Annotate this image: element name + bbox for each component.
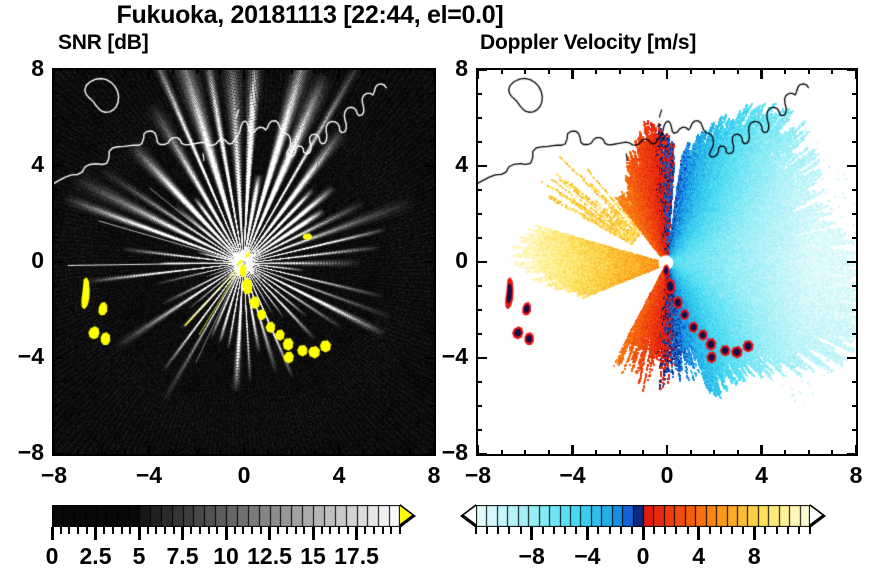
colorbar-minor-tick (60, 527, 62, 534)
axis-tick (430, 93, 436, 95)
page-title: Fukuoka, 20181113 [22:44, el=0.0] (0, 1, 620, 30)
axis-tick (196, 68, 198, 74)
axis-tick (713, 450, 715, 456)
axis-tick (524, 450, 526, 456)
y-axis-tick-label: −4 (420, 343, 468, 370)
colorbar-minor-tick (553, 527, 555, 534)
axis-tick (430, 189, 436, 191)
velocity-colorbar[interactable] (476, 505, 810, 527)
colorbar-minor-tick (216, 527, 218, 534)
x-axis-tick-label: −8 (24, 462, 84, 489)
axis-tick (52, 285, 58, 287)
colorbar-major-tick (697, 527, 700, 540)
axis-tick (362, 450, 364, 456)
axis-tick (476, 285, 482, 287)
axis-tick (52, 93, 58, 95)
axis-tick (386, 450, 388, 456)
colorbar-major-tick (138, 527, 141, 540)
axis-tick (338, 68, 341, 79)
colorbar-minor-tick (620, 527, 622, 534)
axis-tick (548, 68, 550, 74)
radar-display: Fukuoka, 20181113 [22:44, el=0.0] SNR [d… (0, 0, 870, 570)
axis-tick (77, 68, 79, 74)
axis-tick (476, 333, 482, 335)
snr-colorbar-ticks (52, 505, 400, 527)
colorbar-minor-tick (809, 527, 811, 534)
axis-tick (852, 93, 858, 95)
velocity-panel-title: Doppler Velocity [m/s] (476, 31, 862, 55)
colorbar-minor-tick (497, 527, 499, 534)
snr-panel-title: SNR [dB] (52, 31, 442, 55)
axis-tick (847, 165, 858, 168)
colorbar-minor-tick (776, 527, 778, 534)
y-axis-tick-label: 0 (420, 247, 468, 274)
axis-tick (501, 450, 503, 456)
colorbar-major-tick (268, 527, 271, 540)
colorbar-minor-tick (234, 527, 236, 534)
colorbar-tick-label: −8 (519, 543, 545, 570)
axis-tick (760, 445, 763, 456)
y-axis-tick-label: 8 (420, 55, 468, 82)
axis-tick (52, 141, 58, 143)
colorbar-minor-tick (129, 527, 131, 534)
axis-tick (430, 237, 436, 239)
axis-tick (52, 189, 58, 191)
axis-tick (243, 445, 246, 456)
colorbar-minor-tick (329, 527, 331, 534)
axis-tick (852, 405, 858, 407)
axis-tick (476, 381, 482, 383)
axis-tick (430, 429, 436, 431)
axis-tick (430, 117, 436, 119)
axis-tick (52, 405, 58, 407)
axis-tick (571, 445, 574, 456)
colorbar-tick-label: 10 (213, 543, 239, 570)
y-axis-tick-label: 8 (0, 55, 44, 82)
axis-tick (808, 68, 810, 74)
axis-tick (847, 261, 858, 264)
colorbar-minor-tick (787, 527, 789, 534)
colorbar-tick-label: −4 (574, 543, 600, 570)
colorbar-minor-tick (542, 527, 544, 534)
axis-tick (548, 450, 550, 456)
y-axis-tick-label: −8 (420, 439, 468, 466)
axis-tick (52, 165, 63, 168)
axis-tick (338, 445, 341, 456)
colorbar-minor-tick (675, 527, 677, 534)
axis-tick (831, 68, 833, 74)
axis-tick (101, 68, 103, 74)
colorbar-minor-tick (564, 527, 566, 534)
colorbar-minor-tick (277, 527, 279, 534)
colorbar-minor-tick (68, 527, 70, 534)
colorbar-minor-tick (373, 527, 375, 534)
axis-tick (852, 237, 858, 239)
axis-tick (784, 450, 786, 456)
axis-tick (291, 68, 293, 74)
axis-tick (52, 117, 58, 119)
colorbar-minor-tick (798, 527, 800, 534)
colorbar-minor-tick (347, 527, 349, 534)
axis-tick (847, 69, 858, 72)
colorbar-minor-tick (653, 527, 655, 534)
x-axis-tick-label: 0 (214, 462, 274, 489)
axis-tick (852, 309, 858, 311)
colorbar-major-tick (642, 527, 645, 540)
axis-tick (219, 68, 221, 74)
axis-tick (52, 309, 58, 311)
x-axis-tick-label: 4 (309, 462, 369, 489)
axis-tick (124, 68, 126, 74)
colorbar-minor-tick (520, 527, 522, 534)
y-axis-tick-label: 4 (420, 151, 468, 178)
colorbar-tick-label: 5 (133, 543, 146, 570)
colorbar-minor-tick (709, 527, 711, 534)
axis-tick (52, 213, 58, 215)
axis-tick (476, 117, 482, 119)
axis-tick (852, 189, 858, 191)
colorbar-minor-tick (382, 527, 384, 534)
axis-tick (148, 445, 151, 456)
colorbar-minor-tick (742, 527, 744, 534)
colorbar-extend-min-fill (464, 506, 476, 524)
axis-tick (52, 69, 63, 72)
axis-tick (501, 68, 503, 74)
snr-radar-image (54, 70, 434, 454)
axis-tick (430, 405, 436, 407)
axis-tick (101, 450, 103, 456)
axis-tick (291, 450, 293, 456)
colorbar-tick-label: 15 (300, 543, 326, 570)
colorbar-minor-tick (164, 527, 166, 534)
colorbar-minor-tick (399, 527, 401, 534)
colorbar-minor-tick (631, 527, 633, 534)
axis-tick (476, 141, 482, 143)
colorbar-minor-tick (321, 527, 323, 534)
axis-tick (784, 68, 786, 74)
axis-tick (430, 285, 436, 287)
axis-tick (314, 450, 316, 456)
colorbar-minor-tick (190, 527, 192, 534)
colorbar-minor-tick (242, 527, 244, 534)
colorbar-tick-label: 0 (46, 543, 59, 570)
axis-tick (690, 68, 692, 74)
axis-tick (430, 309, 436, 311)
colorbar-major-tick (355, 527, 358, 540)
colorbar-minor-tick (208, 527, 210, 534)
axis-tick (219, 450, 221, 456)
x-axis-tick-label: −4 (119, 462, 179, 489)
x-axis-tick-label: 0 (637, 462, 697, 489)
colorbar-major-tick (753, 527, 756, 540)
axis-tick (476, 429, 482, 431)
colorbar-minor-tick (260, 527, 262, 534)
axis-tick (666, 68, 669, 79)
axis-tick (847, 453, 858, 456)
colorbar-minor-tick (173, 527, 175, 534)
axis-tick (852, 333, 858, 335)
axis-tick (619, 68, 621, 74)
axis-tick (386, 68, 388, 74)
colorbar-minor-tick (103, 527, 105, 534)
axis-tick (52, 429, 58, 431)
axis-tick (243, 68, 246, 79)
colorbar-minor-tick (286, 527, 288, 534)
colorbar-tick-label: 0 (637, 543, 650, 570)
colorbar-minor-tick (112, 527, 114, 534)
colorbar-minor-tick (508, 527, 510, 534)
axis-tick (476, 405, 482, 407)
colorbar-major-tick (181, 527, 184, 540)
axis-tick (476, 309, 482, 311)
colorbar-minor-tick (147, 527, 149, 534)
axis-tick (430, 141, 436, 143)
axis-tick (52, 453, 63, 456)
colorbar-minor-tick (338, 527, 340, 534)
colorbar-major-tick (530, 527, 533, 540)
colorbar-tick-label: 8 (748, 543, 761, 570)
axis-tick (430, 333, 436, 335)
axis-tick (666, 445, 669, 456)
axis-tick (852, 381, 858, 383)
axis-tick (430, 381, 436, 383)
axis-tick (52, 261, 63, 264)
axis-tick (267, 68, 269, 74)
colorbar-major-tick (94, 527, 97, 540)
axis-tick (314, 68, 316, 74)
colorbar-minor-tick (77, 527, 79, 534)
colorbar-minor-tick (475, 527, 477, 534)
axis-tick (476, 93, 482, 95)
axis-tick (595, 68, 597, 74)
axis-tick (831, 450, 833, 456)
colorbar-major-tick (51, 527, 54, 540)
colorbar-tick-label: 2.5 (80, 543, 112, 570)
axis-tick (619, 450, 621, 456)
colorbar-minor-tick (251, 527, 253, 534)
axis-tick (196, 450, 198, 456)
colorbar-tick-label: 12.5 (247, 543, 292, 570)
colorbar-minor-tick (687, 527, 689, 534)
axis-tick (808, 450, 810, 456)
colorbar-minor-tick (155, 527, 157, 534)
axis-tick (430, 213, 436, 215)
snr-plot-area[interactable] (52, 68, 436, 456)
colorbar-minor-tick (199, 527, 201, 534)
colorbar-extend-max-fill (810, 506, 822, 524)
colorbar-tick-label: 4 (692, 543, 705, 570)
x-axis-tick-label: 4 (732, 462, 792, 489)
colorbar-minor-tick (390, 527, 392, 534)
axis-tick (571, 68, 574, 79)
colorbar-minor-tick (295, 527, 297, 534)
axis-tick (524, 68, 526, 74)
axis-tick (690, 450, 692, 456)
axis-tick (852, 117, 858, 119)
axis-tick (737, 450, 739, 456)
velocity-colorbar-ticks (476, 505, 810, 527)
colorbar-major-tick (586, 527, 589, 540)
snr-colorbar[interactable] (52, 505, 400, 527)
axis-tick (476, 237, 482, 239)
axis-tick (52, 381, 58, 383)
axis-tick (737, 68, 739, 74)
velocity-radar-image (478, 70, 856, 454)
colorbar-minor-tick (303, 527, 305, 534)
axis-tick (124, 450, 126, 456)
y-axis-tick-label: −8 (0, 439, 44, 466)
x-axis-tick-label: 8 (826, 462, 870, 489)
axis-tick (409, 450, 411, 456)
axis-tick (172, 68, 174, 74)
y-axis-tick-label: −4 (0, 343, 44, 370)
axis-tick (476, 357, 487, 360)
axis-tick (362, 68, 364, 74)
colorbar-minor-tick (86, 527, 88, 534)
axis-tick (476, 213, 482, 215)
colorbar-minor-tick (486, 527, 488, 534)
colorbar-minor-tick (609, 527, 611, 534)
axis-tick (409, 68, 411, 74)
axis-tick (642, 450, 644, 456)
colorbar-minor-tick (764, 527, 766, 534)
colorbar-minor-tick (731, 527, 733, 534)
colorbar-minor-tick (664, 527, 666, 534)
y-axis-tick-label: 0 (0, 247, 44, 274)
axis-tick (52, 237, 58, 239)
axis-tick (642, 68, 644, 74)
colorbar-major-tick (312, 527, 315, 540)
colorbar-extend-max-fill (400, 506, 412, 524)
axis-tick (476, 189, 482, 191)
x-axis-tick-label: −8 (448, 462, 508, 489)
colorbar-minor-tick (597, 527, 599, 534)
axis-tick (713, 68, 715, 74)
velocity-plot-area[interactable] (476, 68, 858, 456)
y-axis-tick-label: 4 (0, 151, 44, 178)
colorbar-major-tick (225, 527, 228, 540)
axis-tick (852, 285, 858, 287)
axis-tick (476, 69, 487, 72)
colorbar-minor-tick (720, 527, 722, 534)
colorbar-minor-tick (121, 527, 123, 534)
x-axis-tick-label: −4 (543, 462, 603, 489)
axis-tick (476, 453, 487, 456)
axis-tick (852, 213, 858, 215)
axis-tick (852, 141, 858, 143)
axis-tick (267, 450, 269, 456)
axis-tick (847, 357, 858, 360)
colorbar-tick-label: 7.5 (167, 543, 199, 570)
axis-tick (760, 68, 763, 79)
axis-tick (77, 450, 79, 456)
axis-tick (476, 261, 487, 264)
axis-tick (476, 165, 487, 168)
axis-tick (148, 68, 151, 79)
axis-tick (852, 429, 858, 431)
axis-tick (52, 357, 63, 360)
axis-tick (172, 450, 174, 456)
colorbar-minor-tick (364, 527, 366, 534)
axis-tick (52, 333, 58, 335)
axis-tick (595, 450, 597, 456)
colorbar-tick-label: 17.5 (334, 543, 379, 570)
colorbar-minor-tick (575, 527, 577, 534)
